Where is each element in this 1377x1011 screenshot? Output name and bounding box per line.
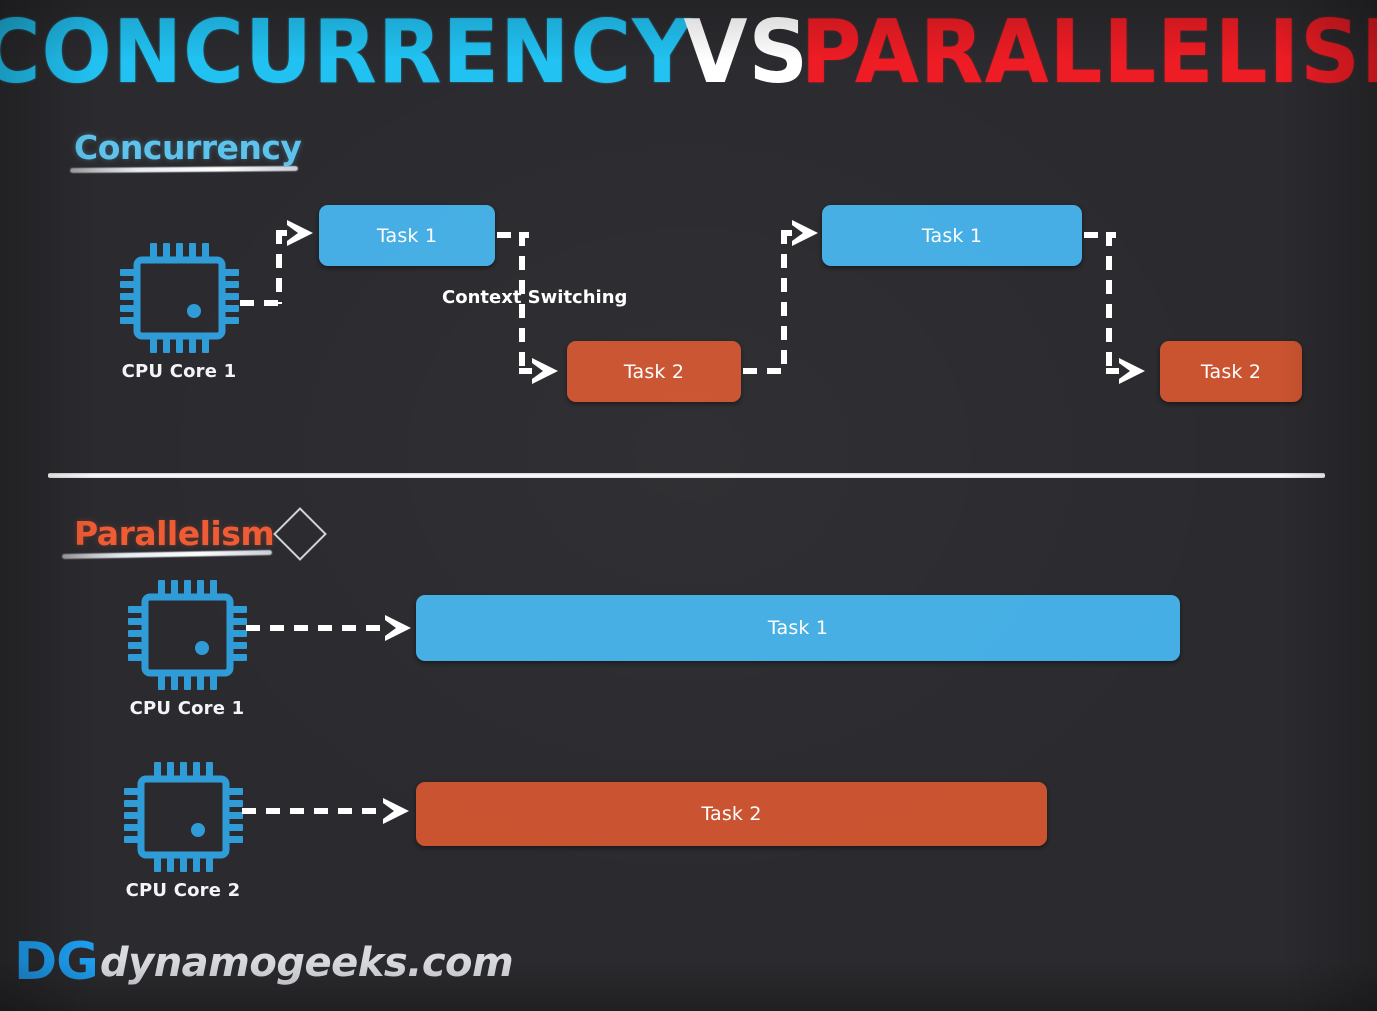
footer-site-name: dynamogeeks.com xyxy=(100,940,513,986)
task-box-concurrency-left-task2[interactable]: Task 2 xyxy=(567,341,741,402)
task-box-label: Task 2 xyxy=(701,803,761,825)
task-box-label: Task 2 xyxy=(624,361,684,383)
task-box-concurrency-right-task1[interactable]: Task 1 xyxy=(822,205,1082,266)
diamond-marker-icon xyxy=(273,507,327,561)
connector-core2-to-task2 xyxy=(242,808,390,814)
section-heading-concurrency: Concurrency xyxy=(74,128,301,167)
connector-task2-to-task1r-v xyxy=(781,230,787,374)
section-divider xyxy=(48,473,1325,478)
cpu-core-1-concurrency: CPU Core 1 xyxy=(118,243,240,353)
arrow-notch-task1-left xyxy=(287,225,298,241)
cpu-core-2-parallelism-label: CPU Core 2 xyxy=(126,880,241,901)
connector-core1-to-task1 xyxy=(246,625,392,631)
section-heading-parallelism: Parallelism xyxy=(74,514,274,553)
context-switching-label: Context Switching xyxy=(442,287,627,308)
task-box-label: Task 1 xyxy=(768,617,828,639)
cpu-chip-icon xyxy=(118,243,240,353)
task-box-concurrency-left-task1[interactable]: Task 1 xyxy=(319,205,495,266)
cpu-core-1-label: CPU Core 1 xyxy=(122,361,237,382)
arrow-notch-task2-right xyxy=(1119,363,1130,379)
arrow-notch-task2-left xyxy=(532,363,543,379)
connector-task1r-to-task2r-v xyxy=(1106,232,1112,374)
arrow-notch-parallel-task2 xyxy=(383,803,394,819)
page-title: CONCURRENCYVSPARALLELISM xyxy=(0,14,1377,92)
cpu-core-1-parallelism: CPU Core 1 xyxy=(126,580,248,690)
concurrency-heading-underline xyxy=(70,166,298,173)
task-box-parallelism-task1[interactable]: Task 1 xyxy=(416,595,1180,661)
cpu-chip-icon xyxy=(126,580,248,690)
footer-logo-mark: DG xyxy=(14,932,98,992)
cpu-core-2-parallelism: CPU Core 2 xyxy=(122,762,244,872)
cpu-chip-icon xyxy=(122,762,244,872)
cpu-core-1-parallelism-label: CPU Core 1 xyxy=(130,698,245,719)
task-box-label: Task 1 xyxy=(377,225,437,247)
task-box-concurrency-right-task2[interactable]: Task 2 xyxy=(1160,341,1302,402)
task-box-label: Task 1 xyxy=(922,225,982,247)
title-word-parallelism: PARALLELISM xyxy=(801,9,1377,96)
infographic-canvas: CONCURRENCYVSPARALLELISM Concurrency xyxy=(0,0,1377,1011)
task-box-parallelism-task2[interactable]: Task 2 xyxy=(416,782,1047,846)
connector-cpu-to-task1-v xyxy=(276,230,282,304)
title-word-concurrency: CONCURRENCY xyxy=(0,9,693,96)
arrow-notch-parallel-task1 xyxy=(385,620,396,636)
arrow-notch-task1-right xyxy=(792,225,803,241)
task-box-label: Task 2 xyxy=(1201,361,1261,383)
